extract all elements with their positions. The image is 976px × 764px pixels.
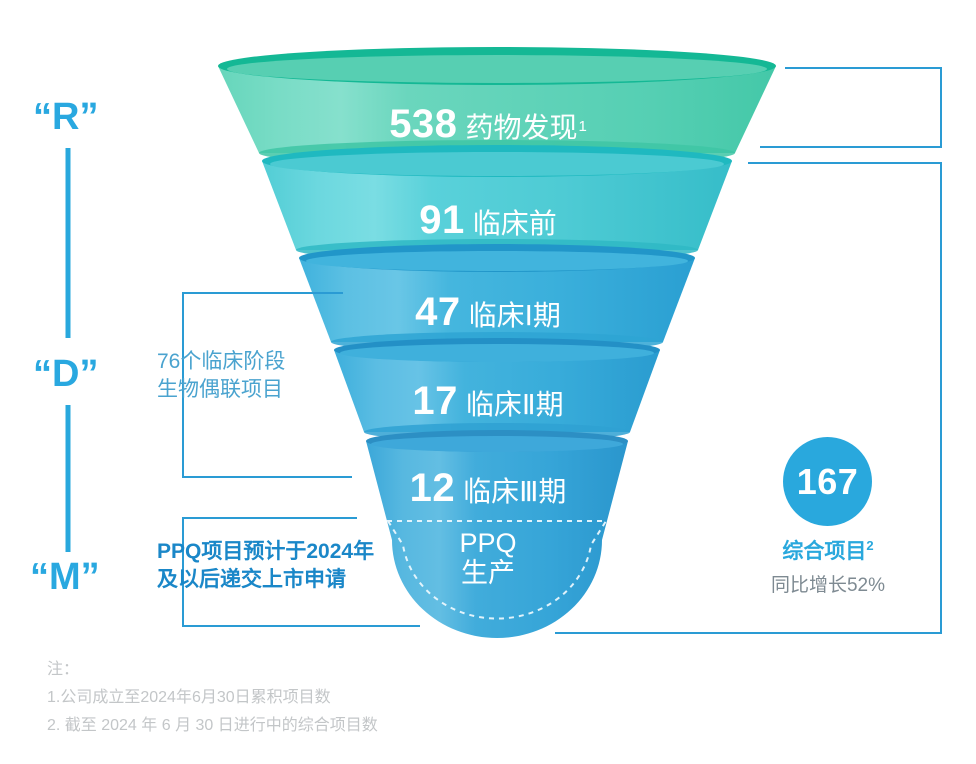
- funnel-infographic: “R” “D” “M” 538药物发现1 91临床前 47临床Ⅰ期 17临床Ⅱ期…: [0, 0, 976, 764]
- footnote-item-1: 1.公司成立至2024年6月30日累积项目数: [47, 684, 378, 712]
- annotation-clinical-stage: 76个临床阶段 生物偶联项目: [157, 348, 285, 403]
- rdm-label-m: “M”: [30, 558, 100, 596]
- annotation-ppq-note-line-2: 及以后递交上市申请: [157, 566, 374, 594]
- rdm-label-r: “R”: [33, 98, 98, 136]
- annotation-clinical-stage-line-1: 76个临床阶段: [157, 348, 285, 376]
- annotation-ppq-note-line-1: PPQ项目预计于2024年: [157, 538, 374, 566]
- funnel-stage-2: [262, 145, 732, 261]
- footnote-item-2: 2. 截至 2024 年 6 月 30 日进行中的综合项目数: [47, 712, 378, 740]
- integrated-projects-growth: 同比增长52%: [718, 570, 938, 597]
- funnel-stage-3: [299, 244, 695, 352]
- rdm-label-d: “D”: [33, 355, 98, 393]
- funnel-stage-5: [366, 430, 628, 638]
- integrated-projects-caption-text: 综合项目: [782, 540, 866, 563]
- integrated-projects-footnote-marker: 2: [866, 538, 873, 553]
- funnel-graphic: [0, 0, 976, 764]
- integrated-projects-badge: 167: [783, 437, 872, 526]
- integrated-projects-caption: 综合项目2: [718, 538, 938, 565]
- footnotes-header: 注：: [47, 656, 378, 684]
- funnel-stage-4: [334, 338, 660, 441]
- footnotes: 注： 1.公司成立至2024年6月30日累积项目数 2. 截至 2024 年 6…: [47, 656, 378, 740]
- annotation-clinical-stage-line-2: 生物偶联项目: [157, 376, 285, 404]
- annotation-ppq-note: PPQ项目预计于2024年 及以后递交上市申请: [157, 538, 374, 593]
- integrated-projects-value: 167: [797, 461, 859, 503]
- bracket-right-upper: [760, 68, 941, 147]
